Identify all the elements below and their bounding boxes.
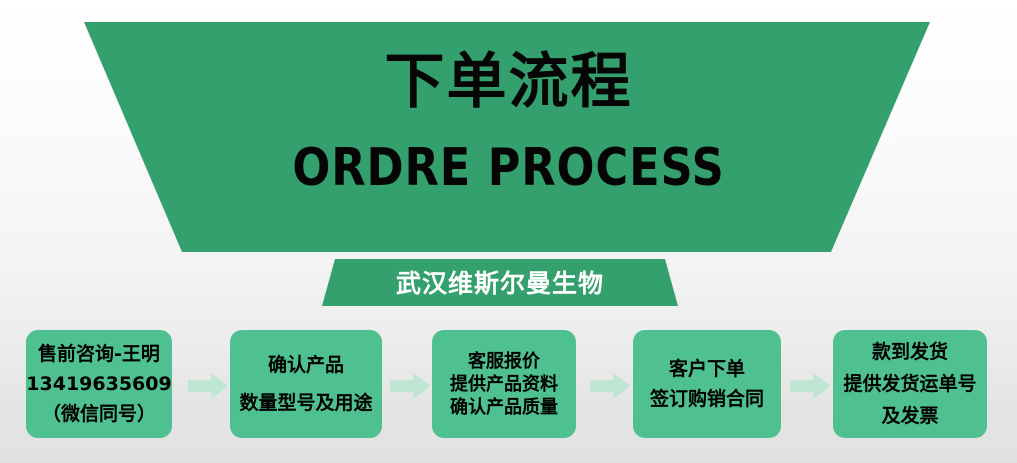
step-line: 客服报价	[468, 350, 540, 373]
process-step-2[interactable]: 确认产品 数量型号及用途	[230, 330, 382, 438]
page-title-english: ORDRE PROCESS	[71, 142, 946, 194]
company-name-label: 武汉维斯尔曼生物	[322, 259, 678, 306]
step-line: 确认产品质量	[450, 396, 558, 419]
process-step-3[interactable]: 客服报价 提供产品资料 确认产品质量	[432, 330, 576, 438]
process-step-5[interactable]: 款到发货 提供发货运单号 及发票	[833, 330, 987, 438]
arrow-right-icon	[390, 373, 430, 399]
process-step-1[interactable]: 售前咨询-王明 13419635609 （微信同号）	[26, 330, 172, 438]
step-line: 及发票	[881, 400, 938, 432]
arrow-right-icon	[590, 373, 630, 399]
step-line: 提供产品资料	[450, 373, 558, 396]
page-title-chinese: 下单流程	[0, 52, 1017, 112]
step-line: 款到发货	[872, 336, 948, 368]
arrow-right-icon	[188, 373, 228, 399]
step-line: 确认产品	[268, 346, 344, 384]
company-banner: 武汉维斯尔曼生物	[322, 259, 678, 306]
step-line: 提供发货运单号	[843, 368, 976, 400]
step-line: （微信同号）	[42, 399, 156, 429]
process-flow: 售前咨询-王明 13419635609 （微信同号） 确认产品 数量型号及用途 …	[0, 330, 1017, 440]
step-line: 售前咨询-王明	[38, 339, 160, 369]
step-line: 签订购销合同	[650, 384, 764, 414]
step-line: 客户下单	[669, 354, 745, 384]
order-process-poster: 下单流程 ORDRE PROCESS 武汉维斯尔曼生物 售前咨询-王明 1341…	[0, 0, 1017, 463]
arrow-right-icon	[790, 373, 830, 399]
process-step-4[interactable]: 客户下单 签订购销合同	[633, 330, 781, 438]
step-line: 13419635609	[26, 369, 171, 399]
step-line: 数量型号及用途	[239, 384, 372, 422]
